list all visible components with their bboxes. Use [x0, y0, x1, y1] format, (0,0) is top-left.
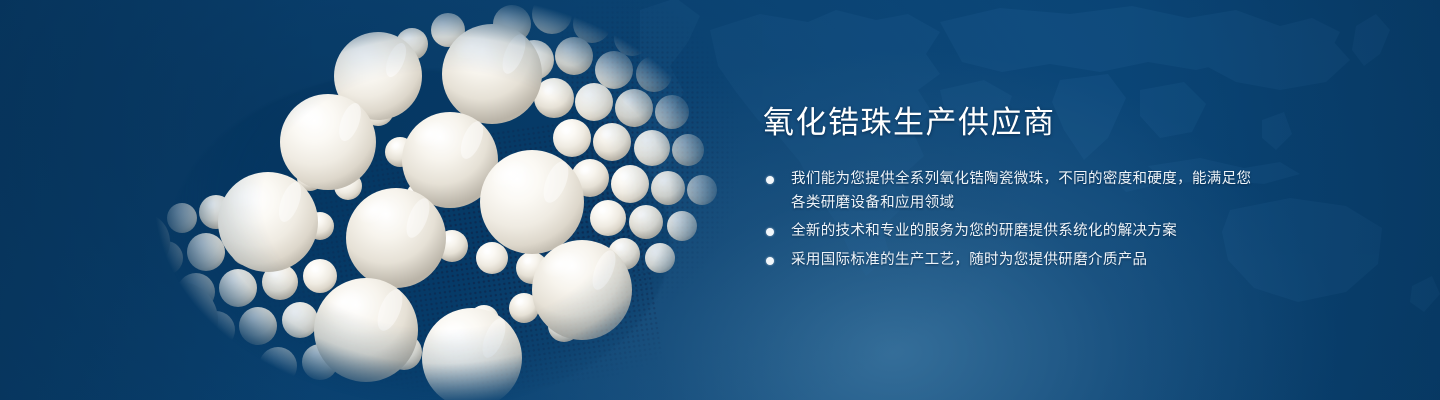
- hero-banner: 氧化锆珠生产供应商 我们能为您提供全系列氧化锆陶瓷微珠，不同的密度和硬度，能满足…: [0, 0, 1440, 400]
- bullet-dot-icon: [766, 257, 774, 265]
- page-title: 氧化锆珠生产供应商: [763, 104, 1263, 142]
- bullet-dot-icon: [766, 228, 774, 236]
- list-item-label: 我们能为您提供全系列氧化锆陶瓷微珠，不同的密度和硬度，能满足您各类研磨设备和应用…: [791, 168, 1263, 215]
- list-item-label: 全新的技术和专业的服务为您的研磨提供系统化的解决方案: [791, 220, 1263, 244]
- list-item: 全新的技术和专业的服务为您的研磨提供系统化的解决方案: [763, 220, 1263, 244]
- list-item: 采用国际标准的生产工艺，随时为您提供研磨介质产品: [763, 249, 1263, 273]
- feature-list: 我们能为您提供全系列氧化锆陶瓷微珠，不同的密度和硬度，能满足您各类研磨设备和应用…: [763, 168, 1263, 272]
- bullet-dot-icon: [766, 176, 774, 184]
- list-item: 我们能为您提供全系列氧化锆陶瓷微珠，不同的密度和硬度，能满足您各类研磨设备和应用…: [763, 168, 1263, 215]
- zirconia-beads-photo: [120, 0, 740, 400]
- list-item-label: 采用国际标准的生产工艺，随时为您提供研磨介质产品: [791, 249, 1263, 273]
- banner-copy: 氧化锆珠生产供应商 我们能为您提供全系列氧化锆陶瓷微珠，不同的密度和硬度，能满足…: [763, 104, 1263, 272]
